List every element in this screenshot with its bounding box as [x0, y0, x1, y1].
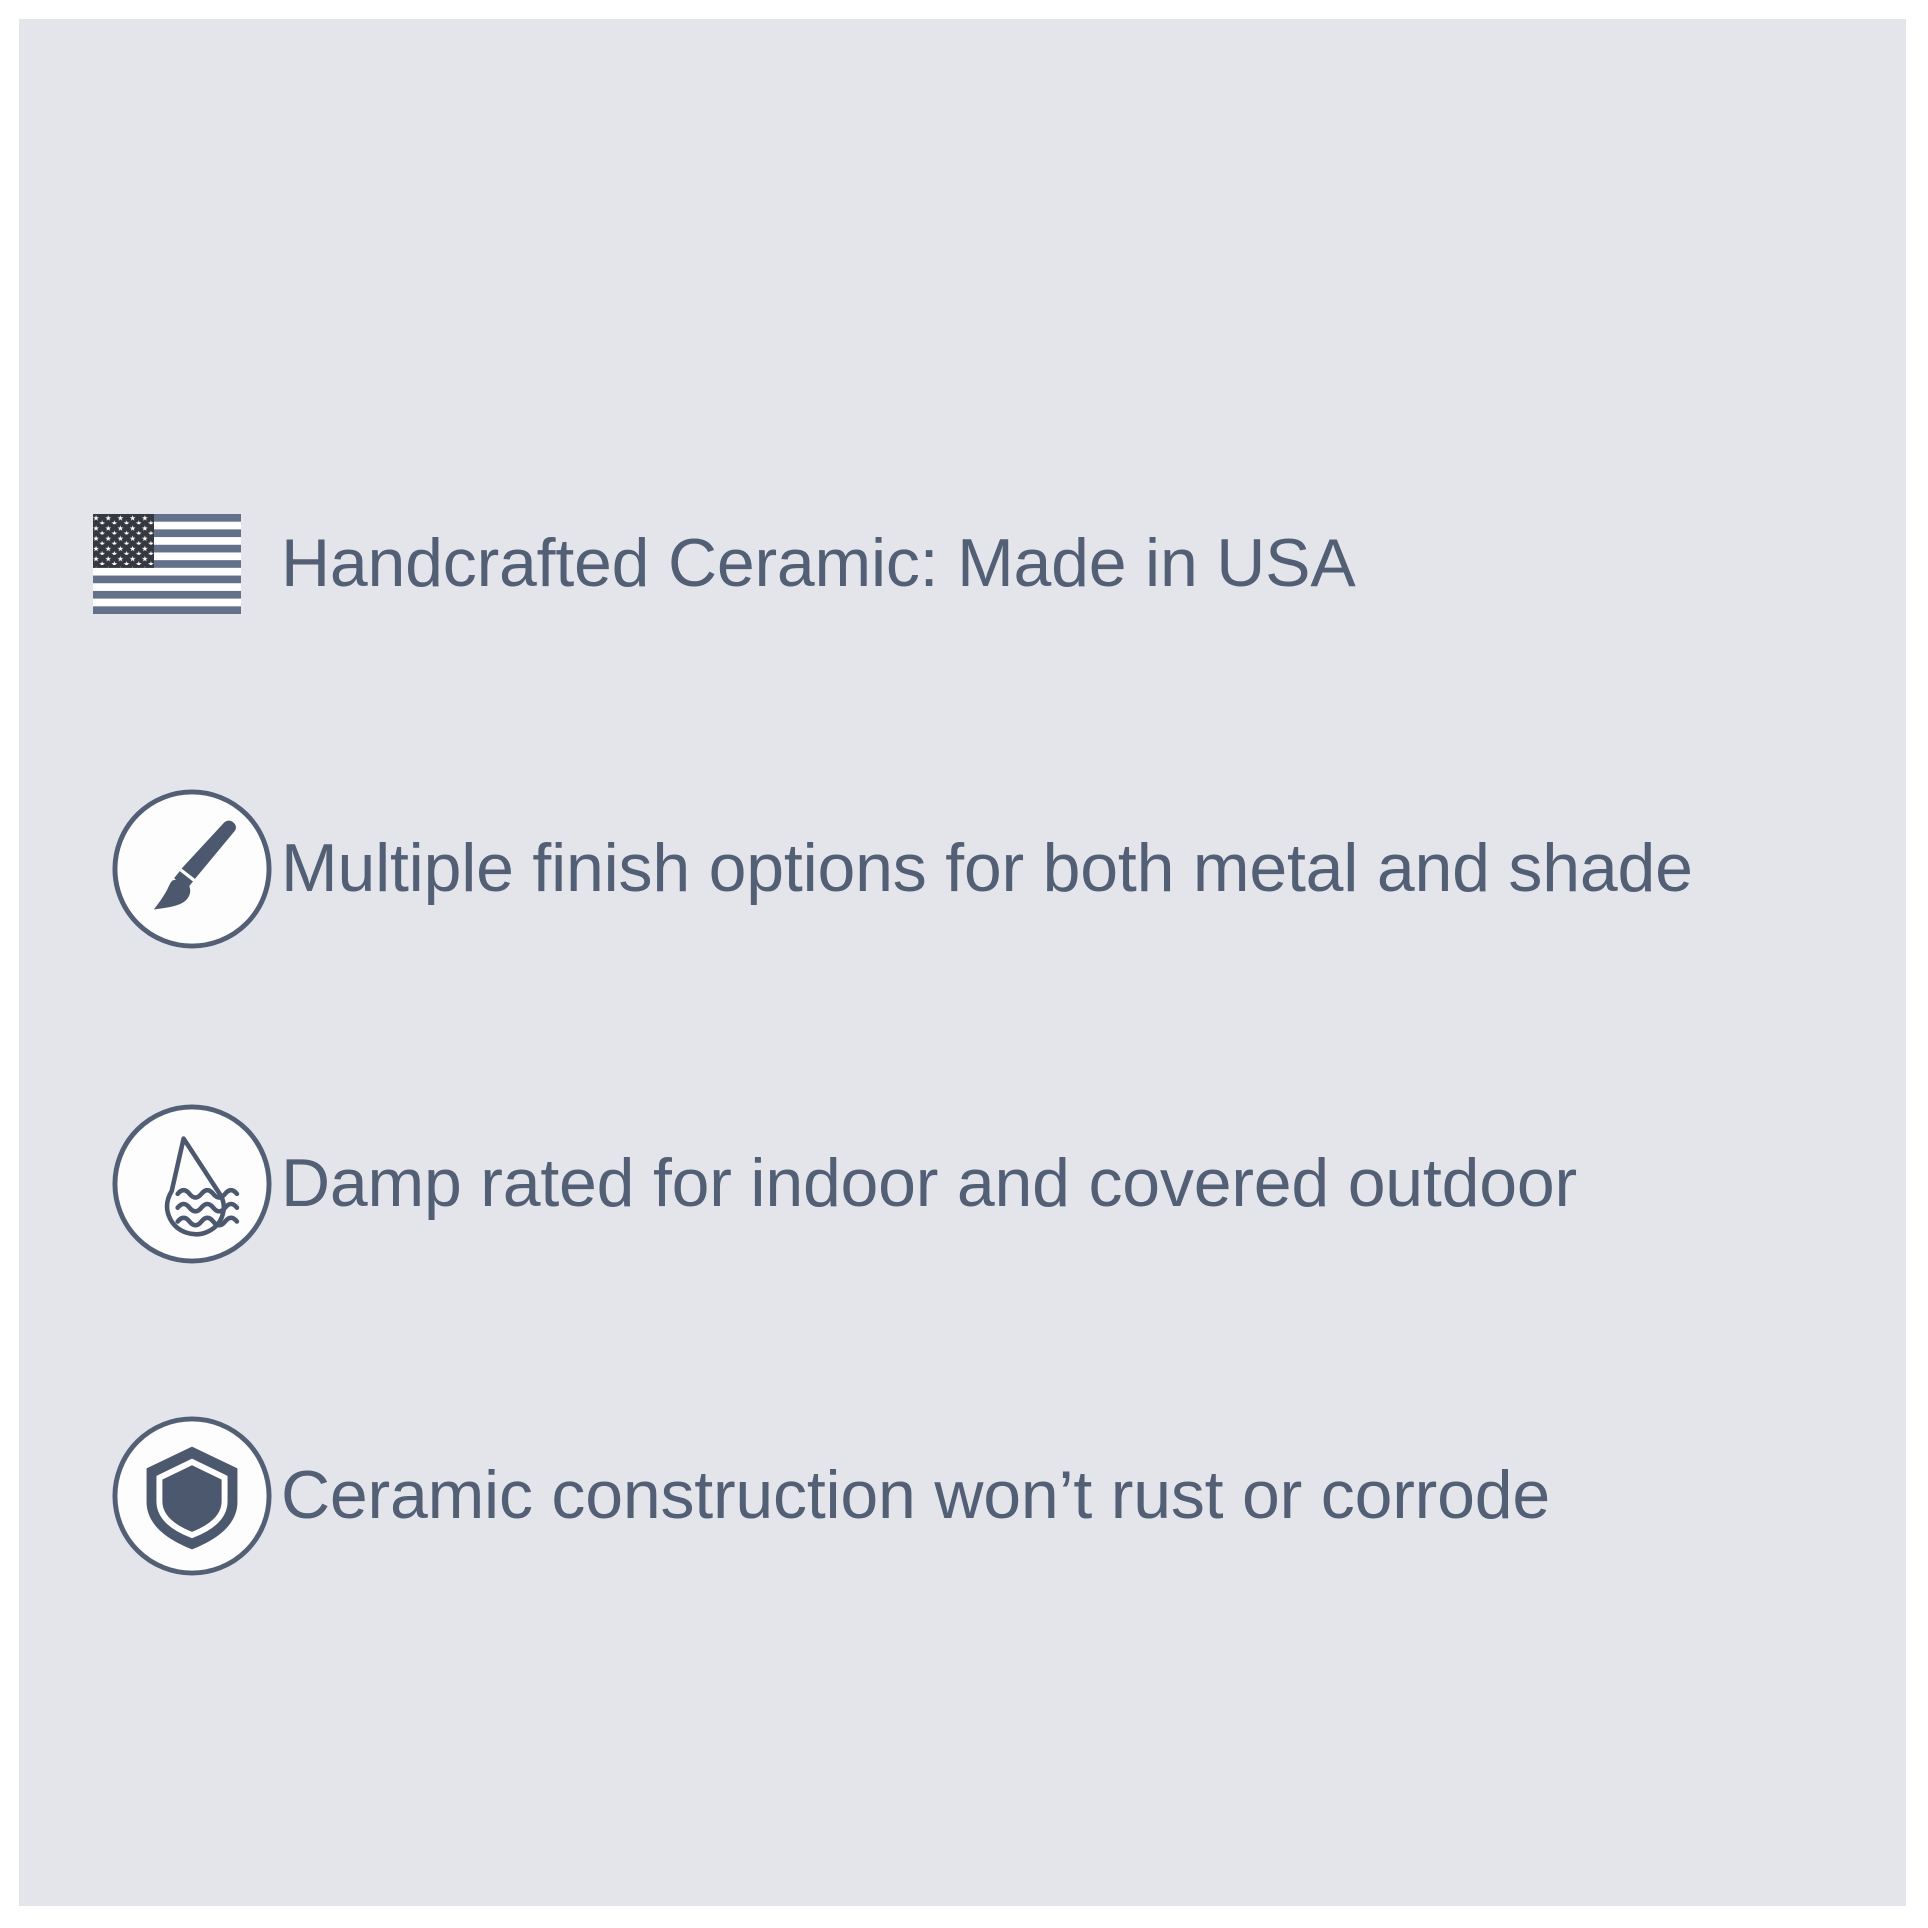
feature-label: Damp rated for indoor and covered outdoo… — [273, 1147, 1577, 1220]
usa-flag-icon — [93, 514, 241, 614]
feature-row: Multiple finish options for both metal a… — [93, 784, 1693, 954]
icon-slot — [93, 787, 273, 951]
infographic-panel: Handcrafted Ceramic: Made in USA Multipl… — [19, 19, 1906, 1906]
shield-icon — [111, 1414, 273, 1578]
paintbrush-icon — [111, 787, 273, 951]
water-drop-waves-icon — [111, 1102, 273, 1266]
feature-row: Damp rated for indoor and covered outdoo… — [93, 1099, 1577, 1269]
feature-label: Ceramic construction won’t rust or corro… — [273, 1459, 1550, 1532]
feature-row: Ceramic construction won’t rust or corro… — [93, 1411, 1550, 1581]
feature-label: Multiple finish options for both metal a… — [273, 832, 1693, 905]
icon-slot — [93, 514, 273, 614]
feature-label: Handcrafted Ceramic: Made in USA — [273, 527, 1356, 600]
feature-list: Handcrafted Ceramic: Made in USA Multipl… — [19, 19, 1906, 1906]
icon-slot — [93, 1414, 273, 1578]
feature-row: Handcrafted Ceramic: Made in USA — [93, 479, 1356, 649]
icon-slot — [93, 1102, 273, 1266]
